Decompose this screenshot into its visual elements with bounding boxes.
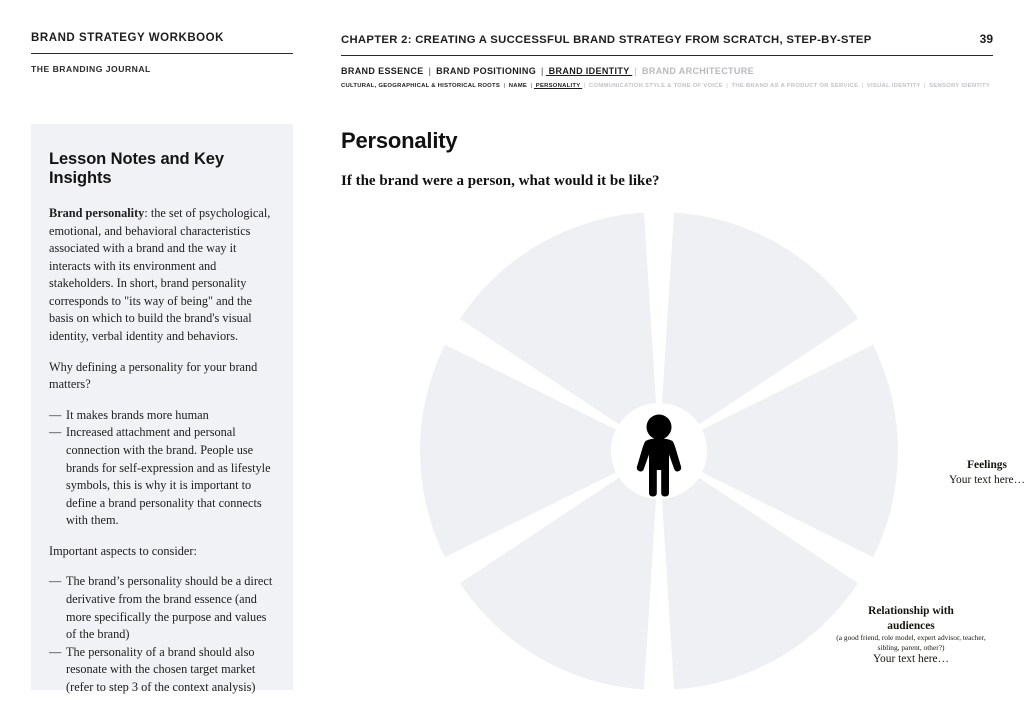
header-right-divider	[341, 55, 993, 56]
breadcrumb-secondary-item[interactable]: CULTURAL, GEOGRAPHICAL & HISTORICAL ROOT…	[341, 83, 502, 89]
workbook-page: BRAND STRATEGY WORKBOOK THE BRANDING JOU…	[0, 0, 1024, 724]
aspect-item-text: The brand’s personality should be a dire…	[66, 574, 272, 641]
segment-placeholder-feelings[interactable]: Your text here…	[909, 473, 1024, 488]
chapter-title: CHAPTER 2: CREATING A SUCCESSFUL BRAND S…	[341, 34, 872, 46]
breadcrumb-primary-item[interactable]: BRAND POSITIONING	[433, 66, 539, 76]
aspects-heading: Important aspects to consider:	[49, 543, 275, 561]
breadcrumb-primary-item[interactable]: BRAND ESSENCE	[341, 66, 426, 76]
breadcrumb-separator: |	[428, 66, 431, 76]
reasons-list: —It makes brands more human—Increased at…	[49, 407, 275, 530]
page-title: Personality	[341, 128, 457, 154]
dash-bullet: —	[49, 573, 61, 591]
breadcrumb-separator: |	[726, 83, 728, 89]
personality-wheel: Feelings Your text here… Thoughts Your t…	[409, 201, 909, 701]
lesson-notes-panel: Lesson Notes and Key Insights Brand pers…	[31, 124, 293, 690]
breadcrumb-separator: |	[503, 83, 505, 89]
breadcrumb-separator: |	[530, 83, 532, 89]
page-number: 39	[980, 32, 993, 46]
brand-personality-definition: Brand personality: the set of psychologi…	[49, 205, 275, 346]
page-subtitle: If the brand were a person, what would i…	[341, 173, 660, 190]
reason-item: —Increased attachment and personal conne…	[49, 424, 275, 529]
definition-body: : the set of psychological, emotional, a…	[49, 206, 270, 343]
breadcrumb-separator: |	[541, 66, 544, 76]
breadcrumb-secondary-item[interactable]: THE BRAND AS A PRODUCT OR SERVICE	[730, 83, 860, 89]
header-left-divider	[31, 53, 293, 54]
dash-bullet: —	[49, 644, 61, 662]
breadcrumb-primary-item[interactable]: BRAND ARCHITECTURE	[639, 66, 754, 76]
why-question: Why defining a personality for your bran…	[49, 359, 275, 394]
aspect-item-text: The personality of a brand should also r…	[66, 645, 256, 694]
segment-title-relationship-line1: Relationship with	[833, 604, 989, 619]
breadcrumb-primary-item[interactable]: BRAND IDENTITY	[546, 66, 632, 76]
aspect-item: —The personality of a brand should also …	[49, 644, 275, 697]
header-left: BRAND STRATEGY WORKBOOK THE BRANDING JOU…	[31, 32, 293, 74]
breadcrumb-separator: |	[584, 83, 586, 89]
segment-title-feelings: Feelings	[909, 458, 1024, 473]
dash-bullet: —	[49, 424, 61, 442]
journal-name: THE BRANDING JOURNAL	[31, 64, 293, 74]
segment-title-relationship-line2: audiences	[833, 619, 989, 634]
aspect-item: —The brand’s personality should be a dir…	[49, 573, 275, 643]
breadcrumb-secondary-item[interactable]: COMMUNICATION STYLE & TONE OF VOICE	[587, 83, 725, 89]
workbook-title: BRAND STRATEGY WORKBOOK	[31, 32, 293, 44]
breadcrumb-secondary-item[interactable]: VISUAL IDENTITY	[865, 83, 922, 89]
segment-label-feelings: Feelings Your text here…	[909, 458, 1024, 487]
definition-term: Brand personality	[49, 206, 144, 220]
breadcrumb-separator: |	[634, 66, 637, 76]
person-icon	[611, 403, 707, 499]
reason-item-text: It makes brands more human	[66, 408, 209, 422]
breadcrumb-primary: BRAND ESSENCE | BRAND POSITIONING | BRAN…	[341, 66, 993, 76]
segment-label-relationship: Relationship with audiences (a good frie…	[833, 604, 989, 667]
segment-note-relationship: (a good friend, role model, expert advis…	[833, 633, 989, 652]
reason-item: —It makes brands more human	[49, 407, 275, 425]
lesson-notes-title: Lesson Notes and Key Insights	[49, 150, 275, 188]
breadcrumb-secondary-item[interactable]: NAME	[507, 83, 529, 89]
reason-item-text: Increased attachment and personal connec…	[66, 425, 271, 527]
breadcrumb-secondary-item[interactable]: PERSONALITY	[534, 83, 582, 89]
breadcrumb-separator: |	[924, 83, 926, 89]
aspects-list: —The brand’s personality should be a dir…	[49, 573, 275, 696]
header-right: CHAPTER 2: CREATING A SUCCESSFUL BRAND S…	[341, 32, 993, 89]
dash-bullet: —	[49, 407, 61, 425]
breadcrumb-separator: |	[862, 83, 864, 89]
breadcrumb-secondary: CULTURAL, GEOGRAPHICAL & HISTORICAL ROOT…	[341, 83, 993, 89]
segment-placeholder-relationship[interactable]: Your text here…	[833, 652, 989, 667]
breadcrumb-secondary-item[interactable]: SENSORY IDENTITY	[927, 83, 990, 89]
